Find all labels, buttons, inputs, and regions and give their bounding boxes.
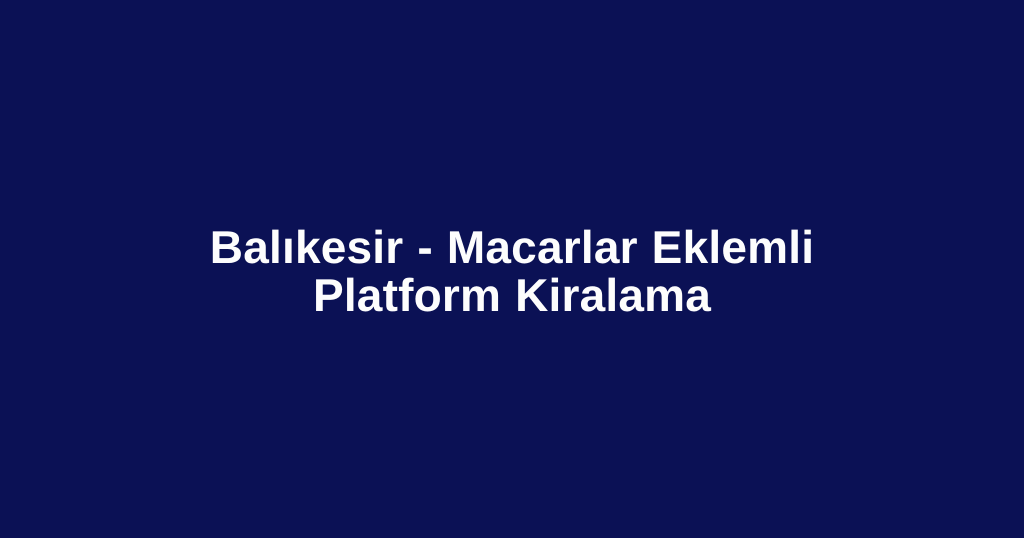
banner-card: Balıkesir - Macarlar Eklemli Platform Ki… <box>0 0 1024 538</box>
page-title: Balıkesir - Macarlar Eklemli Platform Ki… <box>112 223 912 319</box>
title-block: Balıkesir - Macarlar Eklemli Platform Ki… <box>100 223 924 319</box>
